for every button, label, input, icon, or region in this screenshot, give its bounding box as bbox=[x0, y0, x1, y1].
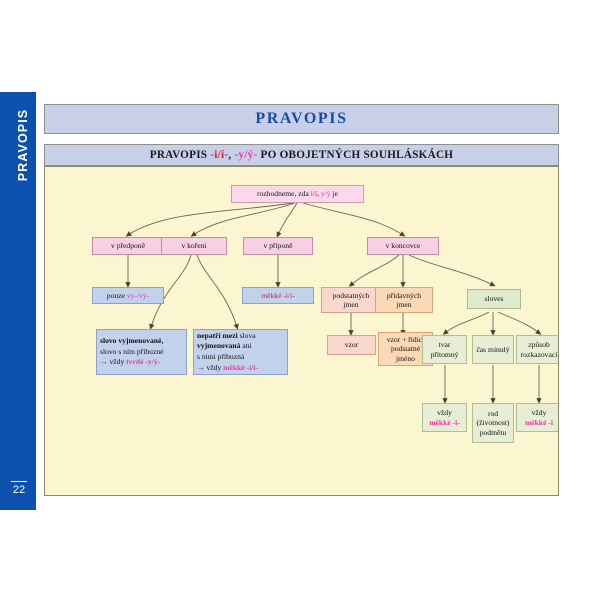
root-rule-2-line3: s nimi příbuzná bbox=[197, 352, 244, 361]
root-rule-2-line4-lead: → vždy bbox=[197, 363, 223, 372]
node-suffix-rule[interactable]: měkké -i/í- bbox=[242, 287, 314, 304]
root-rule-2-line1b: slova bbox=[238, 331, 256, 340]
verb-result-3-magenta: měkké -i bbox=[525, 418, 553, 427]
slide-page: PRAVOPIS 22 PRAVOPIS PRAVOPIS -i/í-, -y/… bbox=[0, 0, 600, 600]
node-root-rule-vyjmenovane[interactable]: slovo vyjmenované, slovo s ním příbuzné … bbox=[96, 329, 187, 375]
root-rule-1-line3-magenta: tvrdé -y/ý- bbox=[126, 357, 160, 366]
subtitle-tail: PO OBOJETNÝCH SOUHLÁSKÁCH bbox=[257, 149, 453, 161]
node-zpusob-rozkazovaci-label: způsob rozkazovací bbox=[520, 340, 558, 359]
node-tvar-pritomny-label: tvar přítomný bbox=[426, 340, 463, 359]
root-rule-2-line2a: vyjmenovaná bbox=[197, 341, 240, 350]
node-v-koncovce[interactable]: v koncovce bbox=[367, 237, 439, 255]
diagram-canvas: rozhodneme, zda i/í, y/ý je v předponě v… bbox=[44, 166, 559, 496]
node-verb-result-present[interactable]: vždy měkké -i- bbox=[422, 403, 467, 432]
subtitle-magenta-token: -y/ý- bbox=[234, 149, 257, 161]
node-pridavnych-jmen[interactable]: přídavných jmen bbox=[375, 287, 433, 313]
verb-result-3-lead: vždy bbox=[532, 408, 547, 417]
node-cas-minuly[interactable]: čas minulý bbox=[472, 335, 514, 364]
node-vzor-label: vzor bbox=[345, 340, 359, 349]
prefix-lead: pouze bbox=[107, 291, 127, 300]
verb-result-1-text: vždy měkké -i- bbox=[429, 408, 460, 427]
verb-result-1-magenta: měkké -i- bbox=[429, 418, 460, 427]
suffix-red: měkké -i/í- bbox=[261, 291, 295, 300]
root-rule-1-line2: slovo s ním příbuzné bbox=[100, 347, 164, 356]
node-root-text: rozhodneme, zda i/í, y/ý je bbox=[257, 189, 338, 198]
node-sloves[interactable]: sloves bbox=[467, 289, 521, 309]
root-rule-2-line4-magenta: měkké -i/í- bbox=[223, 363, 258, 372]
left-sidebar: PRAVOPIS 22 bbox=[0, 92, 38, 510]
node-verb-result-past[interactable]: rod (životnost) podmětu bbox=[472, 403, 514, 443]
node-v-predpone-label: v předponě bbox=[111, 241, 145, 250]
node-podstatnych-jmen[interactable]: podstatných jmen bbox=[321, 287, 381, 313]
page-number-divider bbox=[11, 481, 27, 482]
node-v-predpone[interactable]: v předponě bbox=[92, 237, 164, 255]
node-v-koreni-label: v kořeni bbox=[181, 241, 206, 250]
root-magenta: y/ý bbox=[321, 189, 331, 198]
root-rule-1-text: slovo vyjmenované, slovo s ním příbuzné … bbox=[100, 336, 164, 368]
root-rule-1-line1: slovo vyjmenované, bbox=[100, 336, 163, 345]
node-prefix-rule[interactable]: pouze vy-/vý- bbox=[92, 287, 164, 304]
node-tvar-pritomny[interactable]: tvar přítomný bbox=[422, 335, 467, 364]
node-podstatnych-jmen-label: podstatných jmen bbox=[325, 291, 377, 310]
node-v-pripone[interactable]: v příponě bbox=[243, 237, 313, 255]
sidebar-chapter-label: PRAVOPIS bbox=[16, 90, 30, 200]
page-number: 22 bbox=[0, 484, 38, 496]
node-root[interactable]: rozhodneme, zda i/í, y/ý je bbox=[231, 185, 364, 203]
prefix-rule-text: pouze vy-/vý- bbox=[107, 291, 149, 300]
node-sloves-label: sloves bbox=[485, 294, 504, 303]
node-verb-result-imperative[interactable]: vždy měkké -i bbox=[516, 403, 559, 432]
page-title: PRAVOPIS bbox=[44, 104, 559, 134]
page-subtitle: PRAVOPIS -i/í-, -y/ý- PO OBOJETNÝCH SOUH… bbox=[44, 144, 559, 166]
prefix-magenta: vy-/vý- bbox=[127, 291, 149, 300]
node-cas-minuly-label: čas minulý bbox=[476, 345, 509, 354]
node-pridavnych-jmen-label: přídavných jmen bbox=[379, 291, 429, 310]
root-rule-2-line2b: ani bbox=[240, 341, 251, 350]
slide-body: PRAVOPIS PRAVOPIS -i/í-, -y/ý- PO OBOJET… bbox=[38, 92, 588, 510]
root-rule-1-line3-lead: → vždy bbox=[100, 357, 126, 366]
root-rule-2-text: nepatří mezi slova vyjmenovaná ani s nim… bbox=[197, 331, 258, 373]
subtitle-red-token: -i/í- bbox=[210, 149, 228, 161]
root-tail: je bbox=[331, 189, 338, 198]
node-zpusob-rozkazovaci[interactable]: způsob rozkazovací bbox=[516, 335, 559, 364]
node-root-rule-nevyjmenovane[interactable]: nepatří mezi slova vyjmenovaná ani s nim… bbox=[193, 329, 288, 375]
root-lead: rozhodneme, zda bbox=[257, 189, 311, 198]
node-v-koreni[interactable]: v kořeni bbox=[161, 237, 227, 255]
subtitle-lead: PRAVOPIS bbox=[150, 149, 211, 161]
node-v-koncovce-label: v koncovce bbox=[386, 241, 421, 250]
root-rule-2-line1a: nepatří mezi bbox=[197, 331, 238, 340]
node-vzor[interactable]: vzor bbox=[327, 335, 376, 355]
verb-result-2-label: rod (životnost) podmětu bbox=[476, 409, 510, 437]
verb-result-1-lead: vždy bbox=[437, 408, 452, 417]
verb-result-3-text: vždy měkké -i bbox=[525, 408, 553, 427]
node-v-pripone-label: v příponě bbox=[264, 241, 293, 250]
